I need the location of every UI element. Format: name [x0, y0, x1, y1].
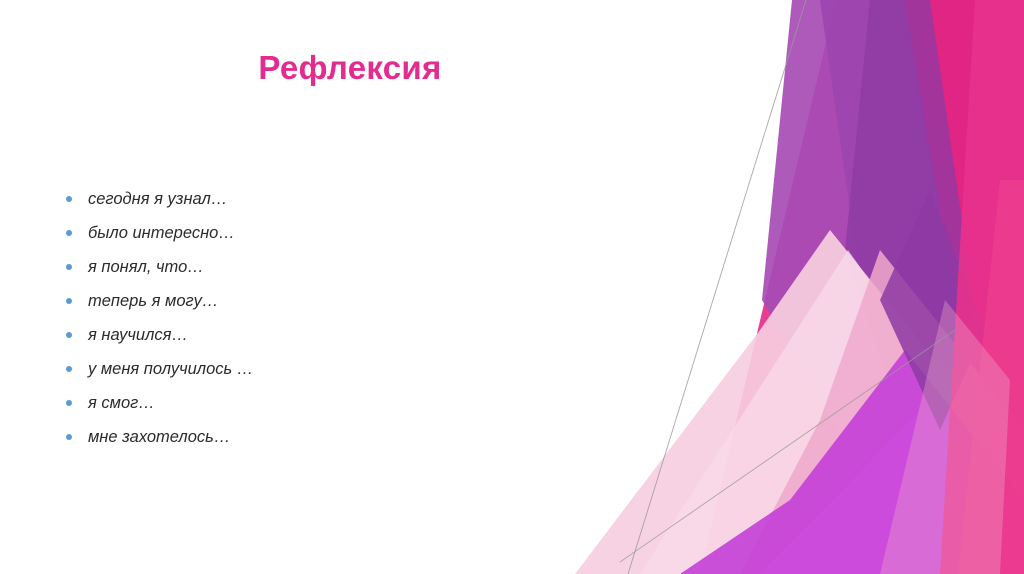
list-item-label: у меня получилось …	[88, 360, 253, 378]
list-item-label: я смог…	[88, 394, 155, 412]
decor-shape-magenta-wedge	[700, 0, 1024, 574]
list-item: было интересно…	[58, 216, 618, 250]
list-item-label: сегодня я узнал…	[88, 190, 227, 208]
decor-shape-purple-diamond	[880, 190, 985, 430]
decor-shape-purple-upper	[820, 0, 955, 420]
decor-shape-pink-pale-sweep	[575, 230, 1024, 574]
decor-shape-violet-bottom	[680, 350, 1024, 574]
decor-shape-pink-blush	[640, 250, 1024, 574]
slide-canvas: Рефлексия сегодня я узнал… было интересн…	[0, 0, 1024, 574]
bullet-dot-icon	[66, 434, 72, 440]
list-item-label: теперь я могу…	[88, 292, 218, 310]
list-item: я понял, что…	[58, 250, 618, 284]
bullet-dot-icon	[66, 298, 72, 304]
decor-shape-purple-main	[762, 0, 962, 470]
list-item: я научился…	[58, 318, 618, 352]
list-item-label: я научился…	[88, 326, 188, 344]
page-title: Рефлексия	[0, 50, 700, 86]
decor-shape-pink-veil	[880, 300, 1010, 574]
bullet-dot-icon	[66, 332, 72, 338]
list-item: мне захотелось…	[58, 420, 618, 454]
decor-shape-magenta-core	[880, 0, 1024, 574]
bullet-dot-icon	[66, 366, 72, 372]
reflection-bullet-list: сегодня я узнал… было интересно… я понял…	[58, 182, 618, 454]
decor-shape-violet-bottom-2	[760, 400, 1024, 574]
list-item: сегодня я узнал…	[58, 182, 618, 216]
list-item: теперь я могу…	[58, 284, 618, 318]
decor-shape-purple-deep	[845, 0, 975, 430]
bullet-dot-icon	[66, 400, 72, 406]
list-item-label: мне захотелось…	[88, 428, 230, 446]
decor-shape-pink-band	[740, 250, 1024, 574]
bullet-dot-icon	[66, 264, 72, 270]
decor-shape-magenta-right	[955, 0, 1024, 574]
decor-hairline-lower	[620, 330, 955, 562]
list-item: у меня получилось …	[58, 352, 618, 386]
list-item: я смог…	[58, 386, 618, 420]
list-item-label: было интересно…	[88, 224, 235, 242]
list-item-label: я понял, что…	[88, 258, 204, 276]
decor-shape-magenta-overlay-2	[958, 180, 1024, 574]
bullet-dot-icon	[66, 196, 72, 202]
decor-shape-magenta-overlay	[940, 0, 1024, 574]
bullet-dot-icon	[66, 230, 72, 236]
decor-shape-magenta-base	[838, 0, 1024, 574]
